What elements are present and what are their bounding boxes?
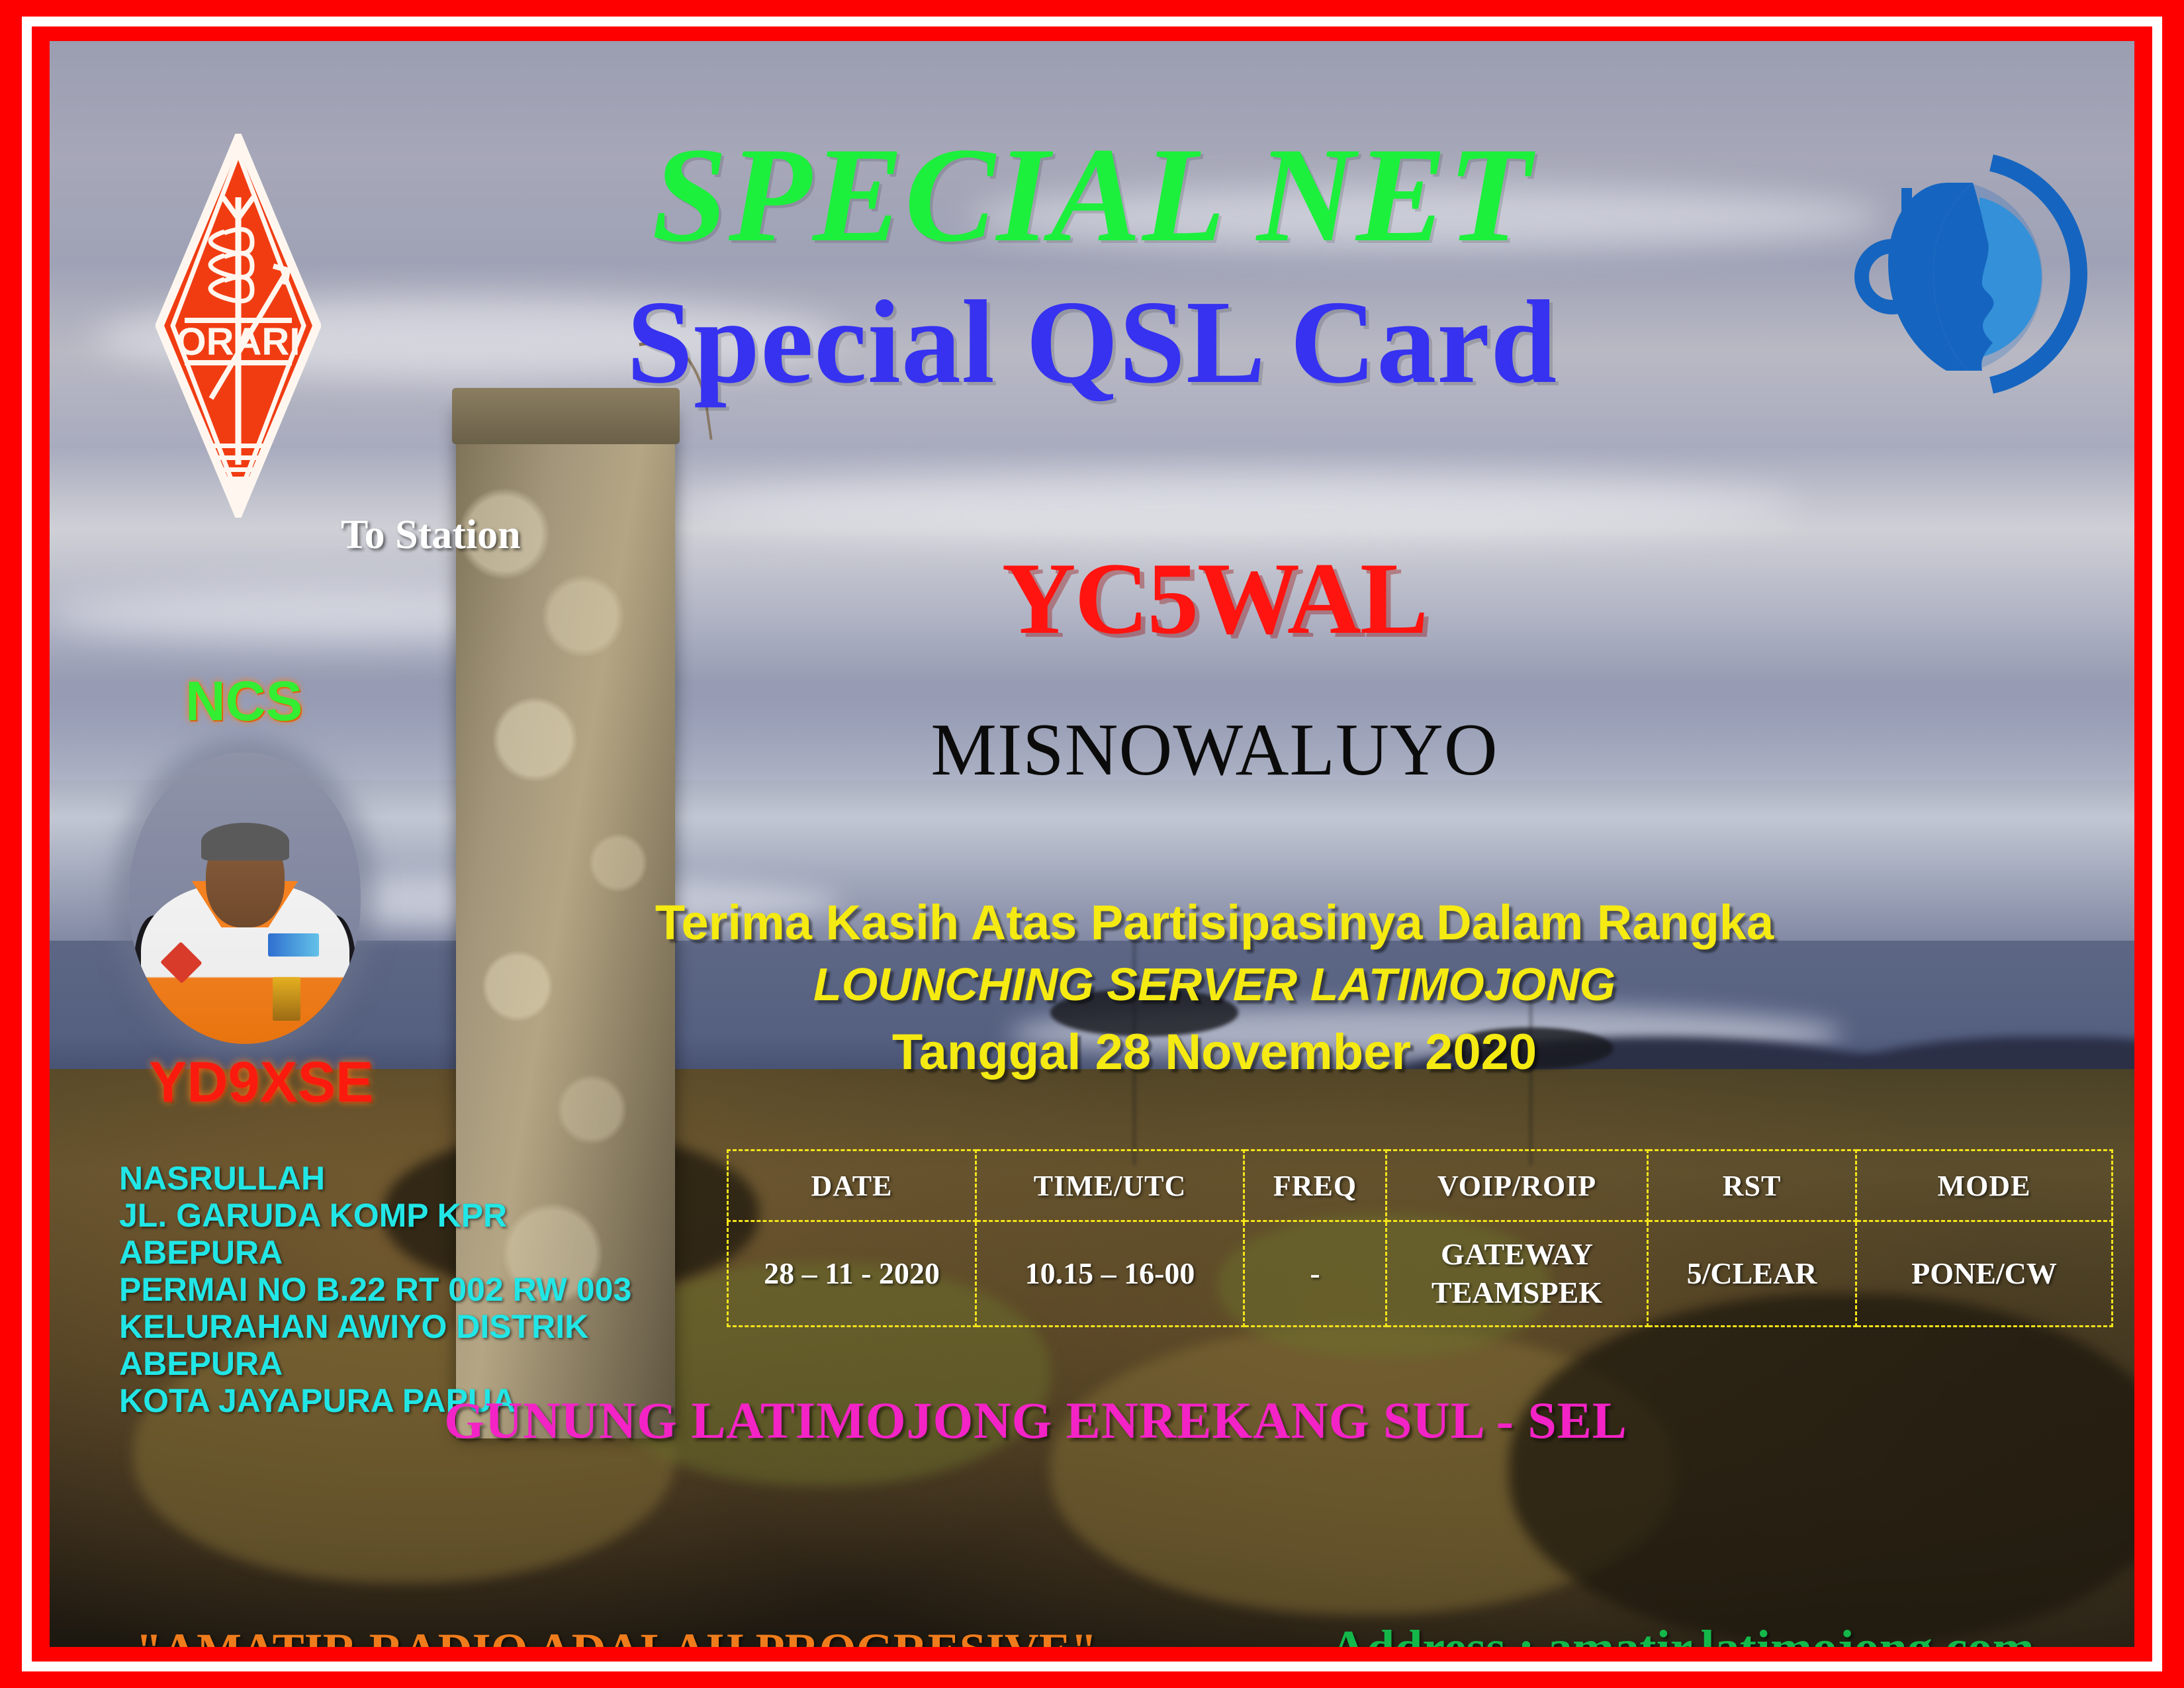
table-header-row: DATE TIME/UTC FREQ VOIP/ROIP RST MODE <box>728 1150 2113 1221</box>
cell-voip-roip: GATEWAY TEAMSPEK <box>1387 1221 1648 1327</box>
column-header-voip-roip: VOIP/ROIP <box>1387 1150 1648 1221</box>
column-header-date: DATE <box>728 1150 976 1221</box>
column-header-mode: MODE <box>1856 1150 2113 1221</box>
motto-text: "AMATIR RADIO ADALAH PROGRESIVE" <box>136 1626 1097 1647</box>
cell-date: 28 – 11 - 2020 <box>728 1221 976 1327</box>
cell-rst: 5/CLEAR <box>1648 1221 1856 1327</box>
event-date: Tanggal 28 November 2020 <box>172 1027 2134 1078</box>
address-line: JL. GARUDA KOMP KPR <box>119 1197 631 1234</box>
column-header-freq: FREQ <box>1244 1150 1387 1221</box>
address-line: ABEPURA <box>119 1234 631 1271</box>
address-line: ABEPURA <box>119 1345 631 1382</box>
address-line: KELURAHAN AWIYO DISTRIK <box>119 1308 631 1345</box>
cell-freq: - <box>1244 1221 1387 1327</box>
address-line: NASRULLAH <box>119 1160 631 1197</box>
background-photograph: ORARI NCS <box>50 41 2134 1647</box>
address-line: PERMAI NO B.22 RT 002 RW 003 <box>119 1271 631 1308</box>
title-special-net: SPECIAL NET <box>50 127 2134 263</box>
web-address: Address : amatir.latimojong.com <box>1330 1623 2034 1647</box>
title-special-qsl-card: Special QSL Card <box>50 283 2134 402</box>
column-header-time-utc: TIME/UTC <box>976 1150 1244 1221</box>
photo-hair <box>201 823 289 861</box>
grass-patch <box>1509 1293 2134 1647</box>
event-name: LOUNCHING SERVER LATIMOJONG <box>172 961 2134 1008</box>
table-row: 28 – 11 - 2020 10.15 – 16-00 - GATEWAY T… <box>728 1221 2113 1327</box>
qsl-address-block: NASRULLAH JL. GARUDA KOMP KPR ABEPURA PE… <box>119 1160 631 1419</box>
qsl-card: ORARI NCS <box>0 0 2184 1688</box>
cell-mode: PONE/CW <box>1856 1221 2113 1327</box>
column-header-rst: RST <box>1648 1150 1856 1221</box>
station-callsign: YC5WAL <box>172 547 2134 650</box>
qso-log-table: DATE TIME/UTC FREQ VOIP/ROIP RST MODE 28… <box>727 1149 2113 1327</box>
thanks-message: Terima Kasih Atas Partisipasinya Dalam R… <box>172 898 2134 947</box>
location-caption: GUNUNG LATIMOJONG ENREKANG SUL - SEL <box>50 1395 2078 1446</box>
cloud-streak <box>675 475 1801 539</box>
operator-name: MISNOWALUYO <box>172 713 2134 787</box>
cell-time-utc: 10.15 – 16-00 <box>976 1221 1244 1327</box>
